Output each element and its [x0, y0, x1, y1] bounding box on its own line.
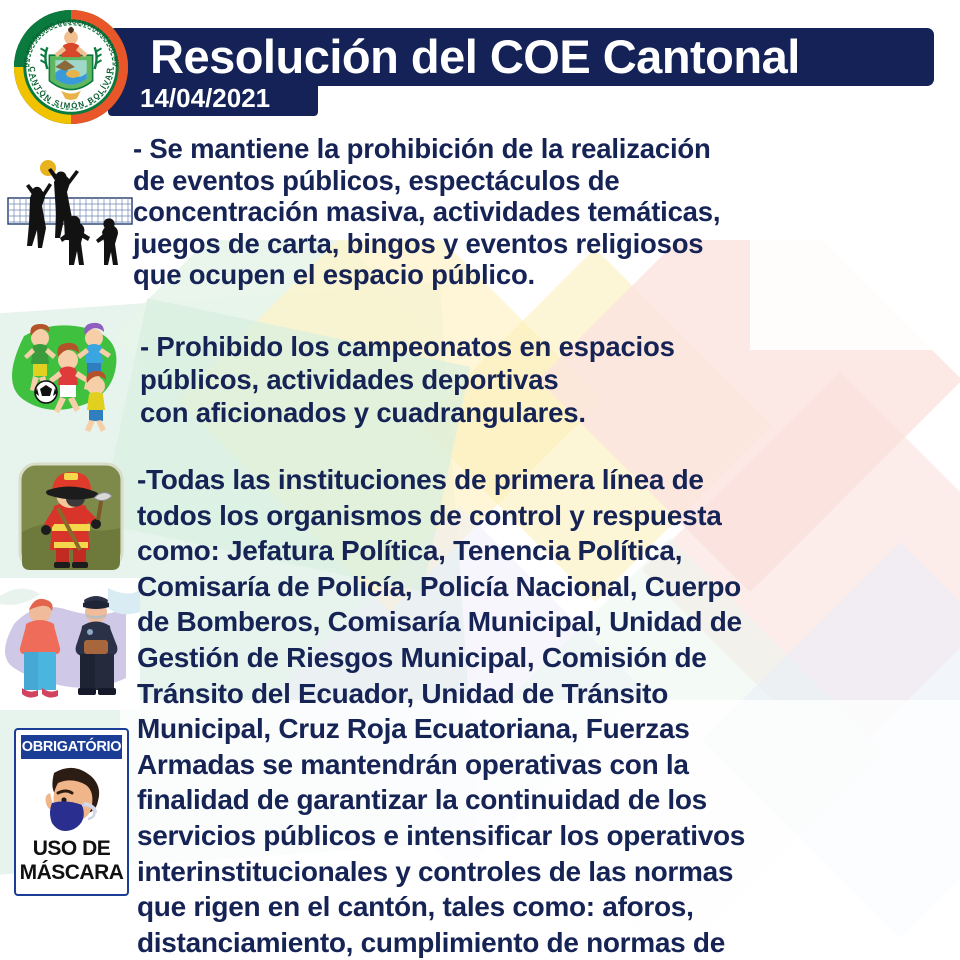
text-line: concentración masiva, actividades temáti…	[133, 196, 933, 228]
text-line: de eventos públicos, espectáculos de	[133, 165, 933, 197]
text-line: que ocupen el espacio público.	[133, 259, 933, 291]
mask-mandatory-sign: OBRIGATÓRIO USO DE MÁSCARA	[14, 728, 129, 896]
text-line: como: Jefatura Política, Tenencia Políti…	[137, 533, 949, 569]
text-line: servicios públicos e intensificar los op…	[137, 818, 949, 854]
text-line: - Prohibido los campeonatos en espacios	[140, 330, 930, 363]
text-line: Gestión de Riesgos Municipal, Comisión d…	[137, 640, 949, 676]
mask-sign-line-2: MÁSCARA	[16, 861, 127, 885]
mask-sign-line-1: USO DE	[16, 837, 127, 861]
text-line: Tránsito del Ecuador, Unidad de Tránsito	[137, 676, 949, 712]
paragraph-eventos-publicos: - Se mantiene la prohibición de la reali…	[133, 133, 933, 291]
text-line: que rigen en el cantón, tales como: afor…	[137, 889, 949, 925]
text-line: Comisaría de Policía, Policía Nacional, …	[137, 569, 949, 605]
mask-sign-header: OBRIGATÓRIO	[21, 735, 122, 759]
text-line: Municipal, Cruz Roja Ecuatoriana, Fuerza…	[137, 711, 949, 747]
resolution-poster: Resolución del COE Cantonal 14/04/2021	[0, 0, 960, 960]
text-line: con aficionados y cuadrangulares.	[140, 396, 930, 429]
paragraph-campeonatos: - Prohibido los campeonatos en espaciosp…	[140, 330, 930, 429]
text-line: - Se mantiene la prohibición de la reali…	[133, 133, 933, 165]
text-line: distanciamiento, cumplimiento de normas …	[137, 925, 949, 960]
text-line: juegos de carta, bingos y eventos religi…	[133, 228, 933, 260]
paragraph-instituciones-primera-linea: -Todas las instituciones de primera líne…	[137, 462, 949, 960]
text-line: interinstitucionales y controles de las …	[137, 854, 949, 890]
text-line: todos los organismos de control y respue…	[137, 498, 949, 534]
text-line: Armadas se mantendrán operativas con la	[137, 747, 949, 783]
text-line: -Todas las instituciones de primera líne…	[137, 462, 949, 498]
poster-body: - Se mantiene la prohibición de la reali…	[0, 0, 960, 960]
text-line: finalidad de garantizar la continuidad d…	[137, 782, 949, 818]
text-line: públicos, actividades deportivas	[140, 363, 930, 396]
mask-sign-frame: OBRIGATÓRIO USO DE MÁSCARA	[14, 728, 129, 896]
text-line: de Bomberos, Comisaría Municipal, Unidad…	[137, 604, 949, 640]
masked-face-icon	[24, 763, 124, 835]
